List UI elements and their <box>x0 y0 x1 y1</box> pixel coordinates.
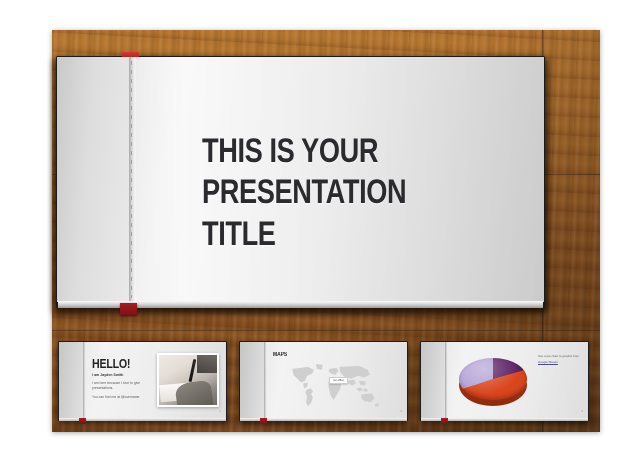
thumbnail-subtitle: I am Jayden Smith <box>92 373 123 377</box>
pie-chart-gloss <box>459 358 527 400</box>
thumbnail-bookmark-ribbon-icon <box>260 418 267 424</box>
hero-slide-page: THIS IS YOUR PRESENTATION TITLE <box>57 57 544 302</box>
thumbnail-body-line-1: I am here because I love to give present… <box>92 381 150 392</box>
thumbnail-left-page <box>59 342 84 418</box>
thumbnail-left-page <box>421 342 446 418</box>
thumbnail-strip: HELLO! I am Jayden Smith I am here becau… <box>58 341 598 423</box>
book-left-page <box>57 57 131 302</box>
thumbnail-gutter <box>264 342 267 418</box>
thumbnail-page-number: 2 <box>219 409 221 413</box>
pen-icon <box>189 359 197 382</box>
thumbnail-title: HELLO! <box>92 356 130 371</box>
thumbnail-bookmark-ribbon-icon <box>79 418 86 424</box>
thumbnail-pie-chart-slide[interactable]: Use a pie chart to graphic from Google S… <box>420 341 589 421</box>
map-callout-label: our office <box>329 377 348 384</box>
caption-line-2: graphic from <box>562 354 579 358</box>
thumbnail-photo <box>157 353 219 407</box>
world-map-icon: our office <box>268 361 401 410</box>
page-title: THIS IS YOUR PRESENTATION TITLE <box>202 131 466 255</box>
hero-slide-book[interactable]: THIS IS YOUR PRESENTATION TITLE <box>56 56 545 308</box>
thumbnail-bookmark-ribbon-icon <box>441 418 448 424</box>
thumbnail-title: MAPS <box>273 352 287 358</box>
thumbnail-page: MAPS <box>240 342 407 418</box>
pie-chart-caption: Use a pie chart to graphic from Google S… <box>538 354 580 365</box>
thumbnail-gutter <box>445 342 448 418</box>
thumbnail-page-number: 4 <box>581 409 583 413</box>
thumbnail-left-page <box>240 342 265 418</box>
caption-line-1: Use a pie chart to <box>538 354 562 358</box>
book-stitching <box>131 61 132 298</box>
thumbnail-hello-slide[interactable]: HELLO! I am Jayden Smith I am here becau… <box>58 341 227 421</box>
thumbnail-gutter <box>83 342 86 418</box>
thumbnail-page: HELLO! I am Jayden Smith I am here becau… <box>59 342 226 418</box>
screenshot-canvas: THIS IS YOUR PRESENTATION TITLE HELLO! I… <box>0 0 640 457</box>
pie-chart <box>457 350 529 412</box>
bookmark-ribbon-bottom-icon <box>120 303 137 315</box>
photo-shadow-region <box>197 355 217 373</box>
thumbnail-body-line-2: You can find me at @username <box>92 395 152 400</box>
thumbnail-maps-slide[interactable]: MAPS <box>239 341 408 421</box>
thumbnail-page-number: 3 <box>400 409 402 413</box>
thumbnail-page: Use a pie chart to graphic from Google S… <box>421 342 588 418</box>
caption-link[interactable]: Google Sheets <box>538 360 580 365</box>
